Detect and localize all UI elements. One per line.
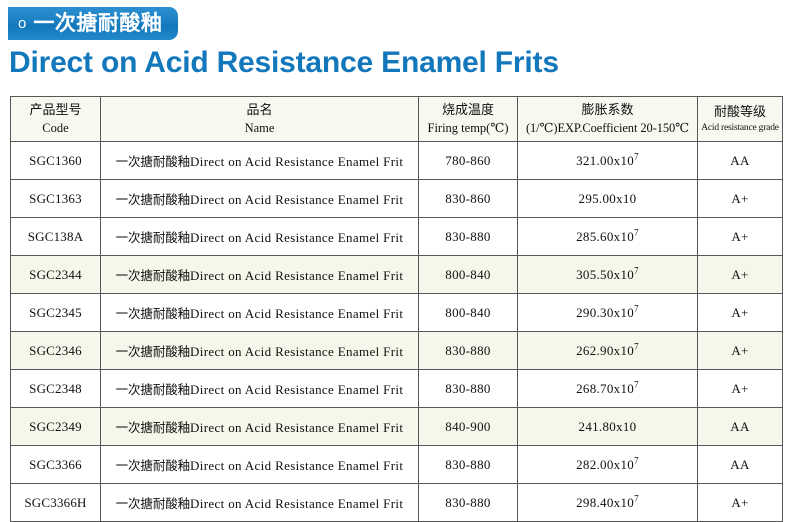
cell-expansion-coefficient: 285.60x107 [518,218,698,256]
cell-expansion-coefficient: 298.40x107 [518,484,698,522]
cell-firing-temp: 800-840 [419,256,518,294]
cell-code: SGC2344 [11,256,101,294]
spec-table-container: 产品型号 Code 品名 Name 烧成温度 Firing temp(℃) 膨胀… [10,96,782,522]
table-row: SGC2348一次搪耐酸釉Direct on Acid Resistance E… [11,370,783,408]
cell-expansion-base: 305.50x10 [576,267,634,282]
cell-name-chinese: 一次搪耐酸釉 [116,306,190,321]
table-row: SGC138A一次搪耐酸釉Direct on Acid Resistance E… [11,218,783,256]
cell-acid-resistance-grade: A+ [698,180,783,218]
cell-acid-resistance-grade: A+ [698,218,783,256]
cell-expansion-exponent: 7 [634,303,639,313]
cell-acid-resistance-grade: A+ [698,256,783,294]
column-header-grade-en: Acid resistance grade [700,122,780,134]
cell-name: 一次搪耐酸釉Direct on Acid Resistance Enamel F… [101,484,419,522]
cell-expansion-coefficient: 290.30x107 [518,294,698,332]
table-row: SGC1360一次搪耐酸釉Direct on Acid Resistance E… [11,142,783,180]
cell-name: 一次搪耐酸釉Direct on Acid Resistance Enamel F… [101,218,419,256]
cell-code: SGC2349 [11,408,101,446]
cell-expansion-exponent: 7 [634,265,639,275]
cell-name-chinese: 一次搪耐酸釉 [116,268,190,283]
column-header-firing-temp-cn: 烧成温度 [421,102,515,120]
banner-title-chinese: 一次搪耐酸釉 [33,13,162,34]
banner-pill: o 一次搪耐酸釉 [8,7,178,40]
cell-expansion-coefficient: 295.00x10 [518,180,698,218]
cell-name: 一次搪耐酸釉Direct on Acid Resistance Enamel F… [101,332,419,370]
cell-expansion-base: 268.70x10 [576,381,634,396]
column-header-code-en: Code [13,120,98,136]
cell-firing-temp: 830-860 [419,180,518,218]
cell-expansion-coefficient: 321.00x107 [518,142,698,180]
cell-expansion-base: 321.00x10 [576,153,634,168]
cell-code: SGC2345 [11,294,101,332]
cell-expansion-base: 282.00x10 [576,457,634,472]
cell-name-chinese: 一次搪耐酸釉 [116,420,190,435]
table-row: SGC2345一次搪耐酸釉Direct on Acid Resistance E… [11,294,783,332]
cell-firing-temp: 800-840 [419,294,518,332]
cell-name-english: Direct on Acid Resistance Enamel Frit [190,306,403,321]
cell-expansion-coefficient: 262.90x107 [518,332,698,370]
cell-acid-resistance-grade: AA [698,446,783,484]
column-header-code-cn: 产品型号 [13,102,98,120]
cell-acid-resistance-grade: A+ [698,332,783,370]
banner-bullet-icon: o [18,16,26,31]
cell-code: SGC2346 [11,332,101,370]
cell-name-english: Direct on Acid Resistance Enamel Frit [190,268,403,283]
cell-name-english: Direct on Acid Resistance Enamel Frit [190,192,403,207]
cell-expansion-exponent: 7 [634,227,639,237]
cell-expansion-exponent: 7 [634,151,639,161]
cell-expansion-exponent: 7 [634,493,639,503]
column-header-grade-cn: 耐酸等级 [700,104,780,122]
table-row: SGC1363一次搪耐酸釉Direct on Acid Resistance E… [11,180,783,218]
column-header-code: 产品型号 Code [11,97,101,142]
table-header: 产品型号 Code 品名 Name 烧成温度 Firing temp(℃) 膨胀… [11,97,783,142]
cell-name: 一次搪耐酸釉Direct on Acid Resistance Enamel F… [101,446,419,484]
cell-firing-temp: 840-900 [419,408,518,446]
cell-code: SGC1360 [11,142,101,180]
column-header-acid-resistance-grade: 耐酸等级 Acid resistance grade [698,97,783,142]
cell-expansion-coefficient: 305.50x107 [518,256,698,294]
header-row: 产品型号 Code 品名 Name 烧成温度 Firing temp(℃) 膨胀… [11,97,783,142]
cell-firing-temp: 830-880 [419,218,518,256]
column-header-name: 品名 Name [101,97,419,142]
cell-expansion-coefficient: 241.80x10 [518,408,698,446]
cell-name: 一次搪耐酸釉Direct on Acid Resistance Enamel F… [101,180,419,218]
cell-firing-temp: 830-880 [419,484,518,522]
column-header-expansion-cn: 膨胀系数 [520,102,695,120]
table-body: SGC1360一次搪耐酸釉Direct on Acid Resistance E… [11,142,783,522]
column-header-expansion-en: (1/℃)EXP.Coefficient 20-150℃ [520,120,695,136]
cell-expansion-exponent: 7 [634,455,639,465]
table-row: SGC2344一次搪耐酸釉Direct on Acid Resistance E… [11,256,783,294]
cell-name-chinese: 一次搪耐酸釉 [116,154,190,169]
cell-expansion-base: 295.00x10 [579,191,637,206]
cell-name-english: Direct on Acid Resistance Enamel Frit [190,458,403,473]
cell-name-english: Direct on Acid Resistance Enamel Frit [190,344,403,359]
section-banner: o 一次搪耐酸釉 [8,7,178,40]
cell-code: SGC1363 [11,180,101,218]
cell-expansion-coefficient: 268.70x107 [518,370,698,408]
cell-code: SGC2348 [11,370,101,408]
cell-firing-temp: 830-880 [419,370,518,408]
page-title: Direct on Acid Resistance Enamel Frits [9,44,559,82]
cell-expansion-base: 290.30x10 [576,305,634,320]
cell-acid-resistance-grade: AA [698,408,783,446]
cell-name-chinese: 一次搪耐酸釉 [116,382,190,397]
table-row: SGC2349一次搪耐酸釉Direct on Acid Resistance E… [11,408,783,446]
cell-name-english: Direct on Acid Resistance Enamel Frit [190,154,403,169]
cell-expansion-coefficient: 282.00x107 [518,446,698,484]
cell-acid-resistance-grade: A+ [698,294,783,332]
column-header-firing-temp-en: Firing temp(℃) [421,120,515,136]
column-header-expansion-coefficient: 膨胀系数 (1/℃)EXP.Coefficient 20-150℃ [518,97,698,142]
cell-acid-resistance-grade: A+ [698,484,783,522]
cell-firing-temp: 780-860 [419,142,518,180]
cell-name: 一次搪耐酸釉Direct on Acid Resistance Enamel F… [101,370,419,408]
cell-name: 一次搪耐酸釉Direct on Acid Resistance Enamel F… [101,256,419,294]
cell-firing-temp: 830-880 [419,332,518,370]
cell-name: 一次搪耐酸釉Direct on Acid Resistance Enamel F… [101,294,419,332]
cell-name-english: Direct on Acid Resistance Enamel Frit [190,420,403,435]
table-row: SGC3366一次搪耐酸釉Direct on Acid Resistance E… [11,446,783,484]
cell-expansion-exponent: 7 [634,379,639,389]
cell-expansion-exponent: 7 [634,341,639,351]
cell-name-english: Direct on Acid Resistance Enamel Frit [190,382,403,397]
cell-code: SGC3366H [11,484,101,522]
cell-name-chinese: 一次搪耐酸釉 [116,192,190,207]
product-spec-table: 产品型号 Code 品名 Name 烧成温度 Firing temp(℃) 膨胀… [10,96,783,522]
cell-acid-resistance-grade: AA [698,142,783,180]
cell-expansion-base: 298.40x10 [576,495,634,510]
column-header-firing-temp: 烧成温度 Firing temp(℃) [419,97,518,142]
cell-name-chinese: 一次搪耐酸釉 [116,496,190,511]
cell-code: SGC138A [11,218,101,256]
cell-expansion-base: 285.60x10 [576,229,634,244]
cell-name: 一次搪耐酸釉Direct on Acid Resistance Enamel F… [101,142,419,180]
cell-name-english: Direct on Acid Resistance Enamel Frit [190,230,403,245]
cell-code: SGC3366 [11,446,101,484]
column-header-name-en: Name [103,120,416,136]
cell-name: 一次搪耐酸釉Direct on Acid Resistance Enamel F… [101,408,419,446]
cell-firing-temp: 830-880 [419,446,518,484]
cell-name-chinese: 一次搪耐酸釉 [116,230,190,245]
table-row: SGC3366H一次搪耐酸釉Direct on Acid Resistance … [11,484,783,522]
cell-expansion-base: 241.80x10 [579,419,637,434]
cell-acid-resistance-grade: A+ [698,370,783,408]
cell-expansion-base: 262.90x10 [576,343,634,358]
cell-name-chinese: 一次搪耐酸釉 [116,344,190,359]
column-header-name-cn: 品名 [103,102,416,120]
cell-name-chinese: 一次搪耐酸釉 [116,458,190,473]
table-row: SGC2346一次搪耐酸釉Direct on Acid Resistance E… [11,332,783,370]
cell-name-english: Direct on Acid Resistance Enamel Frit [190,496,403,511]
